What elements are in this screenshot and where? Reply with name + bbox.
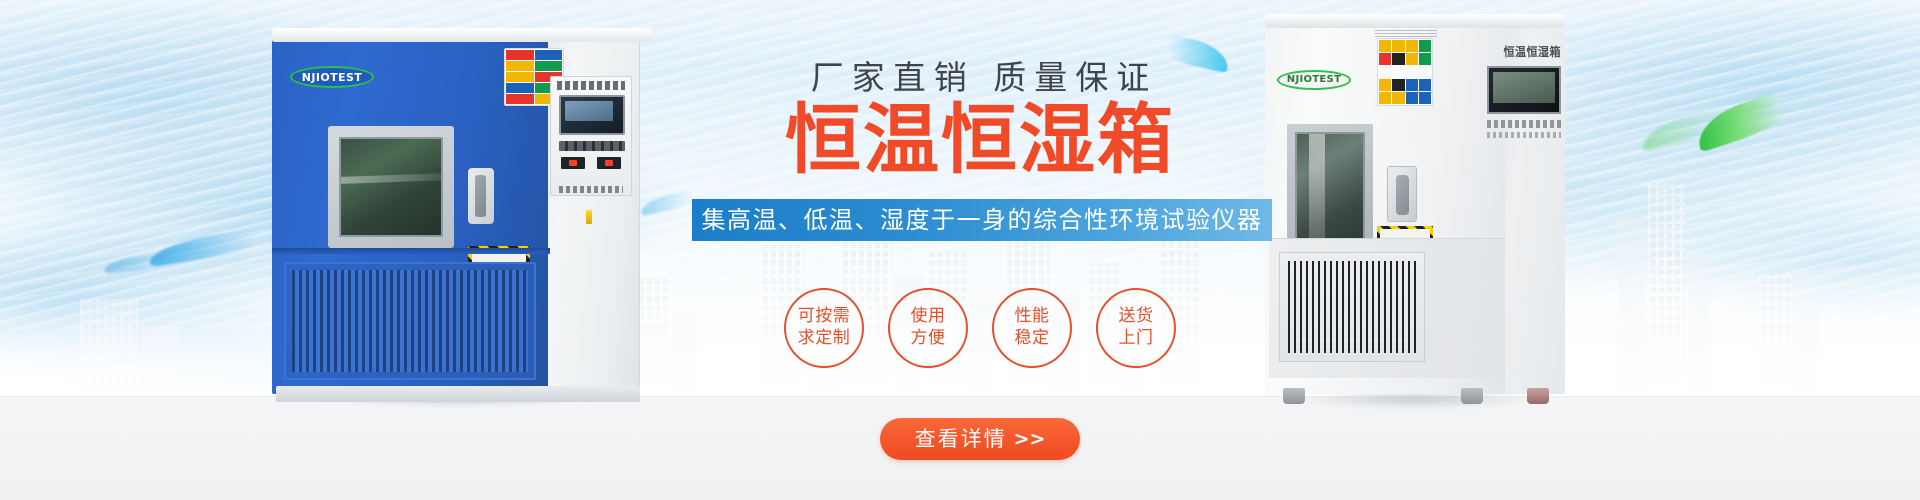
cabinet-base (276, 386, 640, 402)
brand-logo-text: NJIOTEST (302, 72, 362, 83)
product-image-blue-chamber: NJIOTEST (272, 28, 640, 402)
control-screen (1487, 66, 1561, 114)
feature-line-2: 上门 (1119, 328, 1154, 350)
brand-logo-text: NJIOTEST (1287, 75, 1341, 85)
feature-circle-delivery[interactable]: 送货 上门 (1096, 288, 1176, 368)
window-glass (339, 137, 443, 237)
safety-sticker (1377, 38, 1433, 106)
panel-text-strip (1487, 120, 1561, 128)
feature-line-1: 性能 (1015, 306, 1050, 328)
feature-line-1: 可按需 (798, 306, 851, 328)
banner-headline: 恒温恒湿箱 (700, 100, 1260, 180)
panel-text-strip-secondary (1487, 132, 1561, 138)
feature-line-2: 稳定 (1015, 328, 1050, 350)
chamber-view-window (328, 126, 454, 248)
indicator-led (597, 157, 621, 169)
feature-line-2: 求定制 (798, 328, 851, 350)
cabinet-foot (1461, 388, 1483, 404)
brand-logo-badge: NJIOTEST (290, 66, 374, 88)
feature-circle-custom[interactable]: 可按需 求定制 (784, 288, 864, 368)
panel-footer-strip (559, 186, 623, 193)
view-details-label: 查看详情 (915, 429, 1007, 450)
latch-marker (586, 210, 592, 224)
cabinet-top-band (1265, 14, 1565, 28)
feature-circle-group: 可按需 求定制 使用 方便 性能 稳定 送货 上门 (700, 288, 1260, 384)
panel-keypad (559, 141, 625, 151)
ventilation-grille (284, 262, 536, 380)
panel-divider (272, 248, 550, 254)
banner-tagline: 厂家直销 质量保证 (700, 60, 1260, 96)
feature-line-2: 方便 (911, 328, 946, 350)
chamber-model-label: 恒温恒湿箱 (1491, 44, 1561, 60)
window-glass (1295, 132, 1365, 254)
cabinet-caster (1527, 388, 1549, 404)
ventilation-grille (1279, 252, 1425, 362)
door-handle (468, 168, 494, 224)
door-handle (1387, 166, 1417, 222)
banner-copy-block: 厂家直销 质量保证 恒温恒湿箱 集高温、低温、湿度于一身的综合性环境试验仪器 可… (700, 0, 1260, 500)
brand-logo-badge: NJIOTEST (1277, 70, 1351, 90)
top-vent-slots (1375, 28, 1437, 37)
feature-line-1: 使用 (911, 306, 946, 328)
chevron-right-icon: >> (1014, 430, 1046, 449)
product-image-grey-chamber: NJIOTEST 恒温恒湿箱 (1265, 14, 1565, 404)
feature-circle-stable[interactable]: 性能 稳定 (992, 288, 1072, 368)
feature-circle-easy-use[interactable]: 使用 方便 (888, 288, 968, 368)
cabinet-foot (1283, 388, 1305, 404)
control-panel (550, 76, 632, 196)
cabinet-top-band (272, 28, 652, 42)
view-details-button[interactable]: 查看详情 >> (880, 418, 1080, 460)
control-screen (559, 95, 625, 135)
panel-title-strip (557, 81, 625, 90)
indicator-led (561, 157, 585, 169)
banner-subtitle-bar: 集高温、低温、湿度于一身的综合性环境试验仪器 (692, 199, 1272, 241)
feature-line-1: 送货 (1119, 306, 1154, 328)
product-banner: NJIOTEST (0, 0, 1920, 500)
